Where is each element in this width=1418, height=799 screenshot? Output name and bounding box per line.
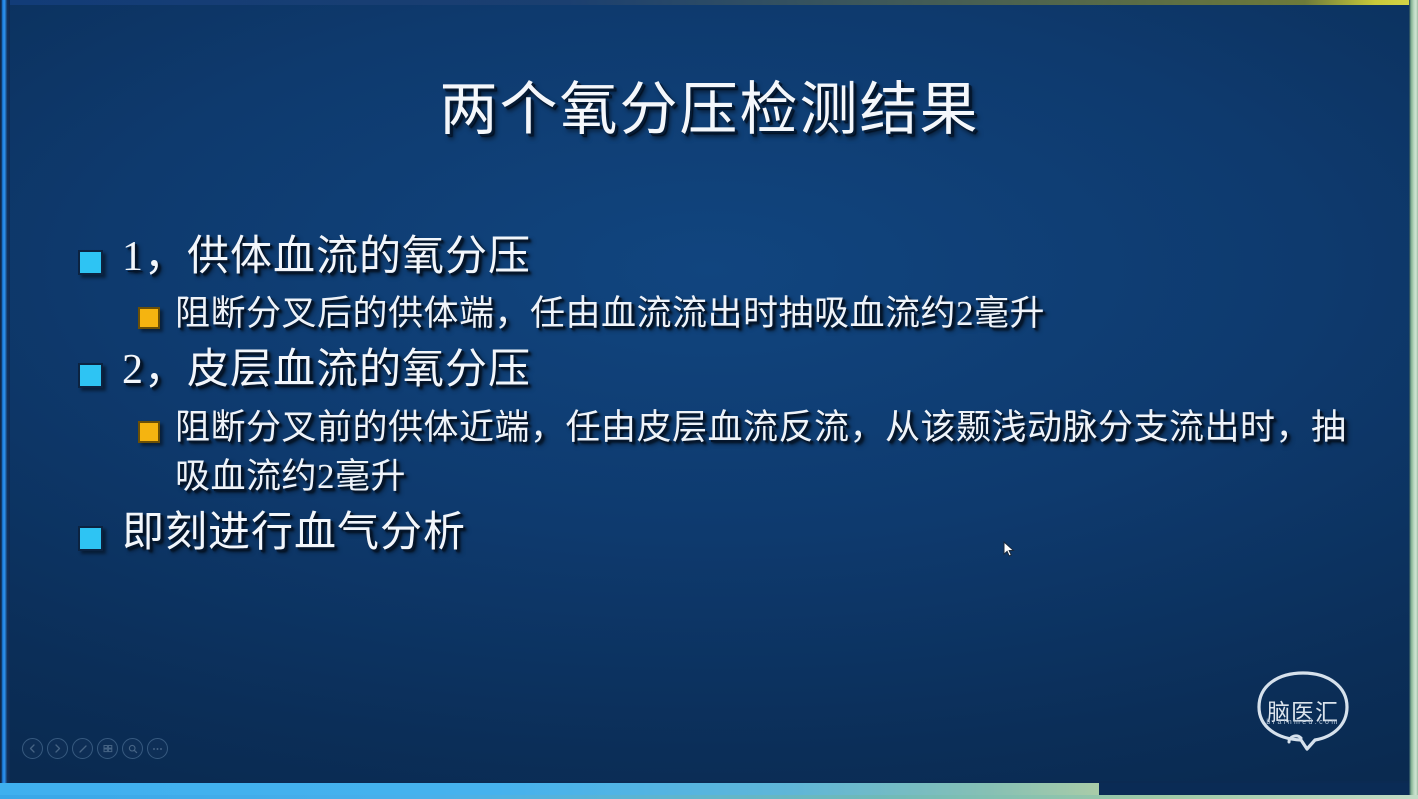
slide-overview-button[interactable] [97, 738, 118, 759]
bullet-text: 1，供体血流的氧分压 [122, 230, 531, 285]
bullet-text: 即刻进行血气分析 [122, 506, 466, 561]
amber-square-bullet-icon [138, 307, 160, 329]
cyan-square-bullet-icon [78, 250, 103, 275]
watermark-name-en: brainmed.com [1245, 719, 1361, 726]
ellipsis-icon [152, 747, 163, 751]
cyan-square-bullet-icon [78, 526, 103, 551]
next-slide-button[interactable] [47, 738, 68, 759]
frame-bottom-edge [0, 795, 1418, 799]
arrow-right-icon [53, 744, 62, 753]
pen-icon [78, 744, 88, 754]
more-options-button[interactable] [147, 738, 168, 759]
list-item: 阻断分叉后的供体端，任由血流流出时抽吸血流约2毫升 [78, 289, 1349, 339]
list-item: 1，供体血流的氧分压 [78, 230, 1349, 285]
arrow-left-icon [28, 744, 37, 753]
previous-slide-button[interactable] [22, 738, 43, 759]
brainmed-watermark-logo: 脑医汇 brainmed.com [1245, 663, 1361, 759]
playback-progress-fill [0, 783, 1099, 795]
presenter-toolbar[interactable] [22, 738, 168, 759]
presentation-window: 两个氧分压检测结果 1，供体血流的氧分压 阻断分叉后的供体端，任由血流流出时抽吸… [0, 0, 1418, 799]
list-item: 即刻进行血气分析 [78, 506, 1349, 561]
bullet-text: 阻断分叉前的供体近端，任由皮层血流反流，从该颞浅动脉分支流出时，抽吸血流约2毫升 [175, 403, 1349, 502]
list-item: 2，皮层血流的氧分压 [78, 343, 1349, 398]
playback-progress-bar[interactable] [0, 783, 1409, 795]
amber-square-bullet-icon [138, 421, 160, 443]
bullet-list: 1，供体血流的氧分压 阻断分叉后的供体端，任由血流流出时抽吸血流约2毫升 2，皮… [78, 230, 1349, 565]
grid-icon [103, 744, 113, 753]
pen-tool-button[interactable] [72, 738, 93, 759]
frame-left-edge [0, 0, 10, 799]
slide-title: 两个氧分压检测结果 [10, 81, 1409, 139]
bullet-text: 阻断分叉后的供体端，任由血流流出时抽吸血流约2毫升 [175, 289, 1045, 339]
list-item: 阻断分叉前的供体近端，任由皮层血流反流，从该颞浅动脉分支流出时，抽吸血流约2毫升 [78, 403, 1349, 502]
frame-right-edge [1409, 0, 1418, 799]
magnifier-icon [128, 744, 138, 754]
cyan-square-bullet-icon [78, 363, 103, 388]
bullet-text: 2，皮层血流的氧分压 [122, 343, 531, 398]
slide-canvas: 两个氧分压检测结果 1，供体血流的氧分压 阻断分叉后的供体端，任由血流流出时抽吸… [10, 5, 1409, 781]
zoom-button[interactable] [122, 738, 143, 759]
